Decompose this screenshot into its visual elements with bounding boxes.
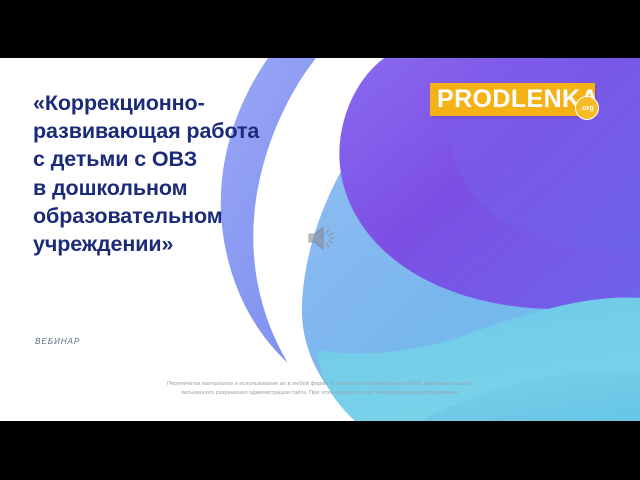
- slide-disclaimer: Перепечатка материалов и использование и…: [20, 380, 620, 398]
- video-player-viewport: «Коррекционно- развивающая работа с деть…: [0, 0, 640, 480]
- title-line: «Коррекционно-: [33, 89, 333, 117]
- logo-org-badge: .org: [575, 96, 599, 120]
- title-line: в дошкольном: [33, 174, 333, 202]
- slide-kicker-label: ВЕБИНАР: [35, 337, 80, 346]
- prodlenka-logo: PRODLENKA .org: [430, 83, 595, 116]
- slide-title: «Коррекционно- развивающая работа с деть…: [33, 89, 333, 258]
- title-line: образовательном: [33, 202, 333, 230]
- disclaimer-line: Перепечатка материалов и использование и…: [20, 380, 620, 389]
- title-line: развивающая работа: [33, 117, 333, 145]
- title-line: с детьми с ОВЗ: [33, 145, 333, 173]
- speaker-icon: [306, 223, 338, 253]
- presentation-slide: «Коррекционно- развивающая работа с деть…: [0, 58, 640, 421]
- letterbox-top-bar: [0, 0, 640, 58]
- disclaimer-line: письменного разрешения администрации сай…: [20, 389, 620, 398]
- title-line: учреждении»: [33, 230, 333, 258]
- letterbox-bottom-bar: [0, 421, 640, 480]
